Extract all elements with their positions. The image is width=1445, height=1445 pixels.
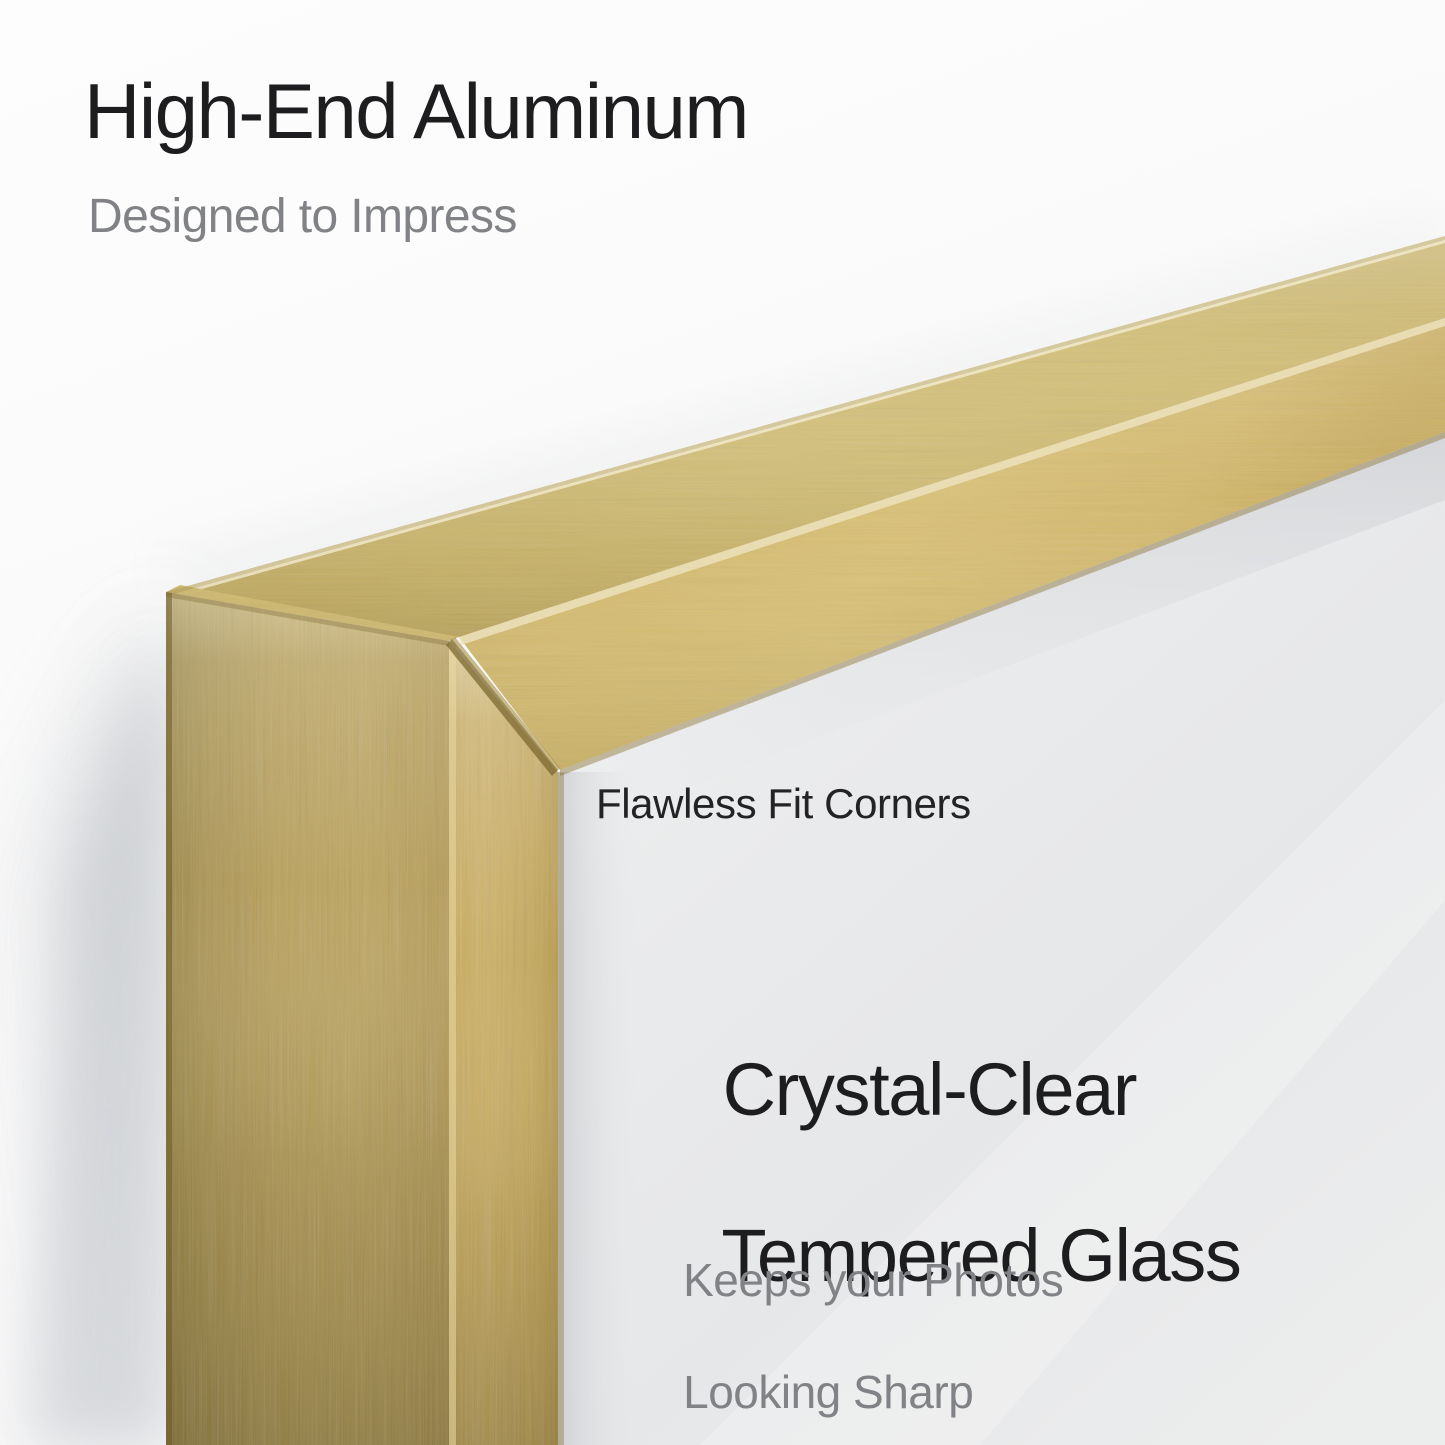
product-feature-image: High-End Aluminum Designed to Impress Fl… [0,0,1445,1445]
page-subtitle: Designed to Impress [88,192,517,242]
glass-feature-subtitle-line1: Keeps your Photos [683,1254,1063,1306]
corner-feature-label: Flawless Fit Corners [596,780,971,828]
page-title: High-End Aluminum [84,72,748,152]
glass-feature-title-line1: Crystal-Clear [723,1048,1137,1131]
glass-feature-subtitle: Keeps your Photos Looking Sharp [634,1196,1063,1445]
glass-feature-subtitle-line2: Looking Sharp [683,1366,973,1418]
